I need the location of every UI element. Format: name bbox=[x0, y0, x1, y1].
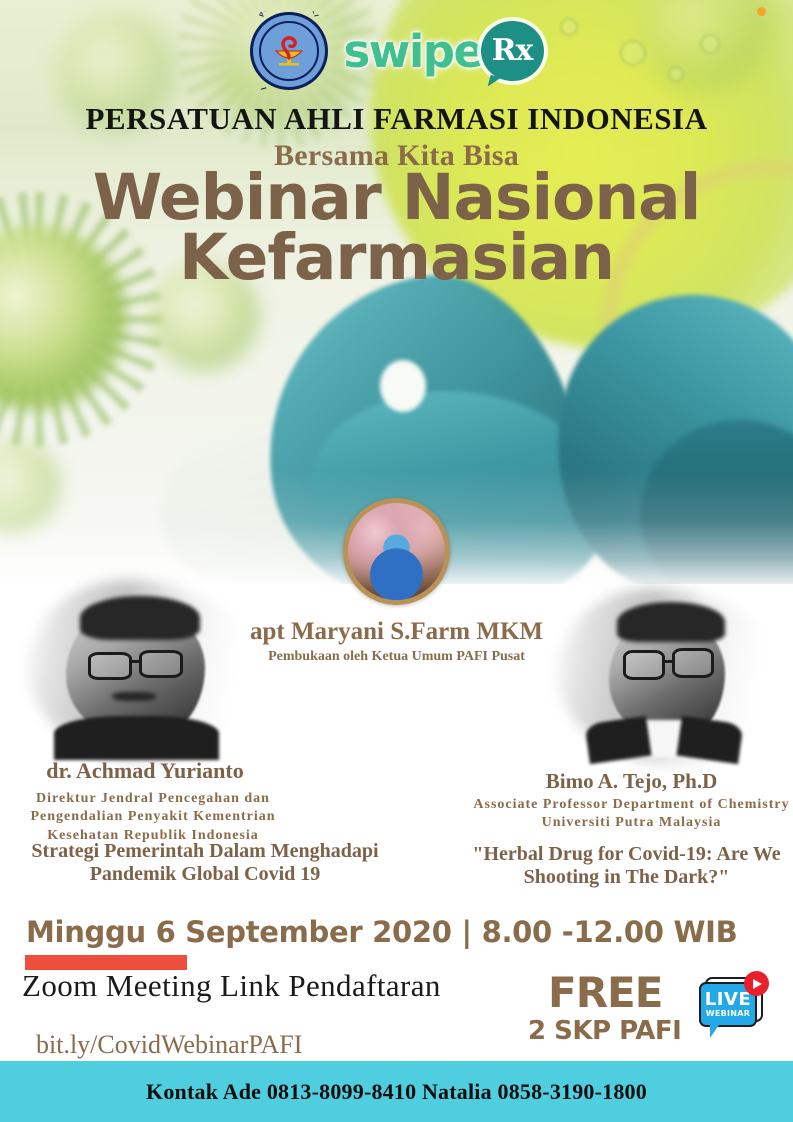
swiperx-logo: swipe Rx bbox=[343, 21, 543, 81]
center-speaker-name: apt Maryani S.Farm MKM bbox=[0, 618, 793, 646]
center-speaker-role: Pembukaan oleh Ketua Umum PAFI Pusat bbox=[0, 649, 793, 665]
credits-label: 2 SKP PAFI bbox=[528, 1016, 681, 1046]
right-speaker-affiliation: Associate Professor Department of Chemis… bbox=[470, 796, 793, 833]
webinar-label: WEBINAR bbox=[706, 1010, 751, 1018]
play-triangle-icon bbox=[753, 979, 762, 989]
registration-link[interactable]: bit.ly/CovidWebinarPAFI bbox=[36, 1030, 302, 1060]
platform-label: Zoom Meeting Link Pendaftaran bbox=[22, 968, 441, 1004]
title-line-2: Kefarmasian bbox=[0, 228, 793, 288]
avatar bbox=[343, 498, 450, 605]
specimen-swab bbox=[380, 360, 426, 412]
live-webinar-badge: LIVE WEBINAR bbox=[697, 975, 767, 1035]
contact-footer-bar: Kontak Ade 0813-8099-8410 Natalia 0858-3… bbox=[0, 1061, 793, 1122]
organization-name: PERSATUAN AHLI FARMASI INDONESIA bbox=[0, 101, 793, 137]
batik-shirt bbox=[54, 716, 219, 760]
event-date-time: Minggu 6 September 2020 | 8.00 -12.00 WI… bbox=[26, 915, 737, 949]
page-title: Webinar Nasional Kefarmasian bbox=[0, 168, 793, 288]
swipe-dot-icon bbox=[757, 7, 766, 16]
right-speaker-topic: "Herbal Drug for Covid-19: Are We Shooti… bbox=[460, 843, 793, 889]
right-speaker-name: Bimo A. Tejo, Ph.D bbox=[470, 769, 793, 794]
pafi-logo-icon: PERSATUAN AHLI FARMASI INDONESIA ★ P A F… bbox=[249, 11, 329, 91]
price-label: FREE bbox=[548, 968, 662, 1017]
play-button-icon bbox=[744, 971, 769, 996]
suit-jacket-left bbox=[585, 716, 652, 764]
swipe-wordmark: swipe bbox=[343, 29, 482, 74]
mustache-shape bbox=[112, 692, 156, 701]
left-speaker-topic: Strategi Pemerintah Dalam Menghadapi Pan… bbox=[0, 840, 410, 886]
center-speaker-block: apt Maryani S.Farm MKM Pembukaan oleh Ke… bbox=[0, 498, 793, 665]
rx-bubble-icon: Rx bbox=[481, 21, 544, 81]
rx-label: Rx bbox=[492, 36, 533, 66]
left-speaker-name: dr. Achmad Yurianto bbox=[0, 758, 290, 784]
live-label: LIVE bbox=[705, 991, 751, 1009]
left-speaker-affiliation: Direktur Jendral Pencegahan dan Pengenda… bbox=[0, 790, 306, 845]
contact-info: Kontak Ade 0813-8099-8410 Natalia 0858-3… bbox=[146, 1079, 647, 1105]
logo-row: PERSATUAN AHLI FARMASI INDONESIA ★ P A F… bbox=[0, 8, 793, 94]
